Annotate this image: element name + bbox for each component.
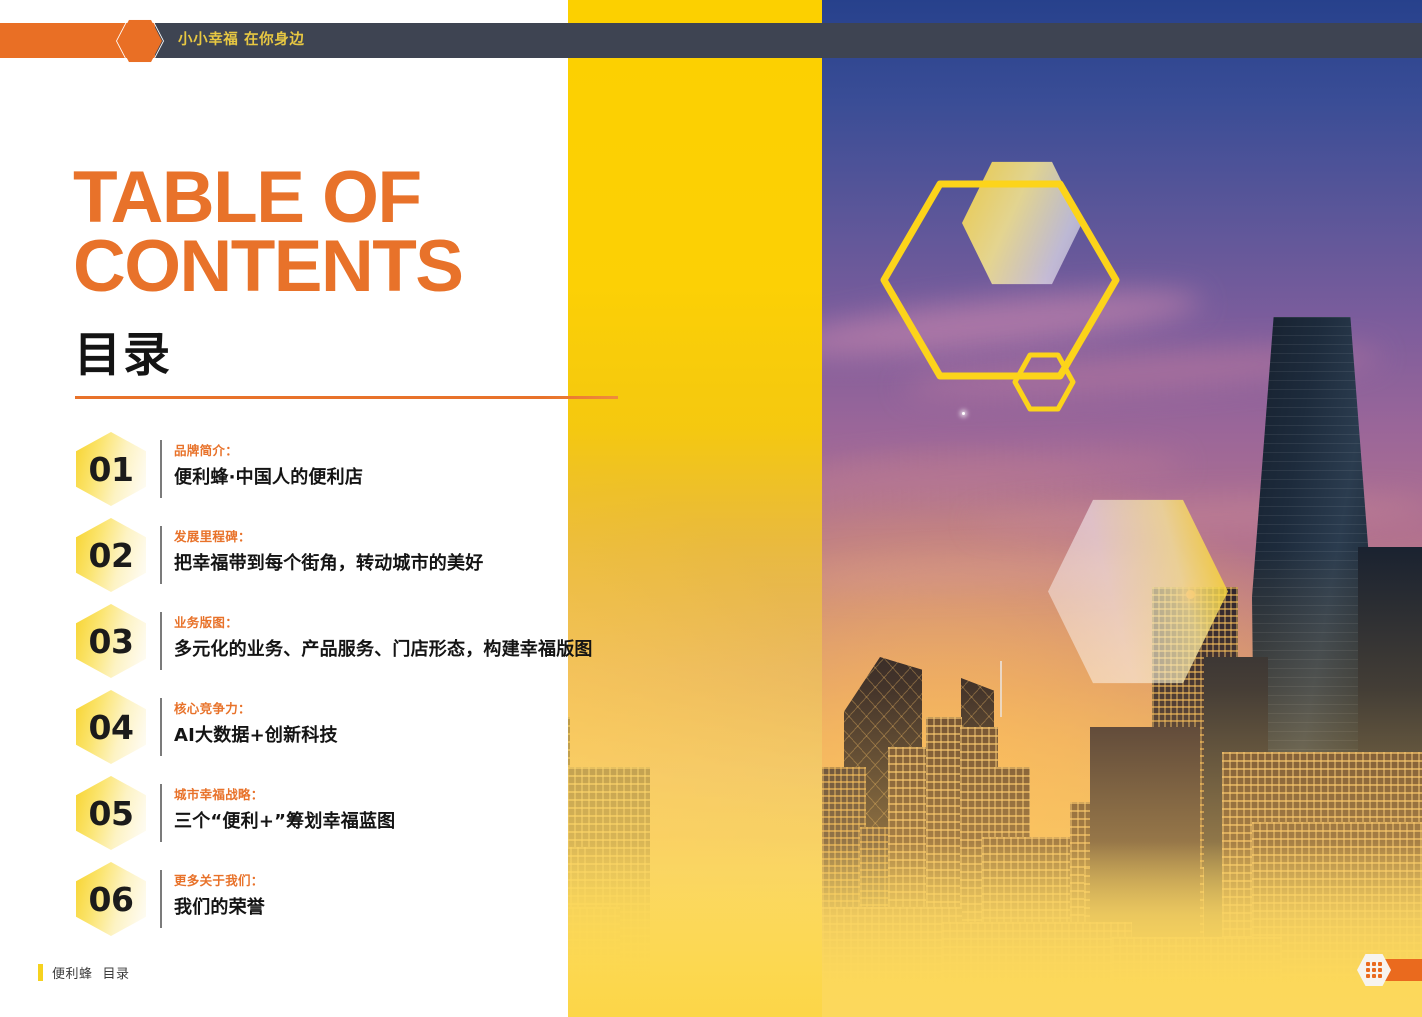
hex-number-badge: 04 [76, 690, 146, 764]
table-of-contents-list: 01 品牌简介： 便利蜂·中国人的便利店 02 发展里程碑： 把幸福带到每个街角… [0, 0, 568, 1017]
item-number: 04 [89, 708, 134, 747]
item-divider [160, 870, 162, 928]
item-number: 05 [89, 794, 134, 833]
list-item[interactable]: 03 业务版图： 多元化的业务、产品服务、门店形态，构建幸福版图 [76, 604, 546, 678]
list-item[interactable]: 01 品牌简介： 便利蜂·中国人的便利店 [76, 432, 546, 506]
item-divider [160, 784, 162, 842]
item-divider [160, 612, 162, 670]
hex-number-badge: 01 [76, 432, 146, 506]
item-number: 06 [89, 880, 134, 919]
item-label: 城市幸福战略： [174, 786, 395, 805]
bottom-haze [822, 842, 1422, 1017]
hex-number-badge: 02 [76, 518, 146, 592]
item-label: 核心竞争力： [174, 700, 338, 719]
item-label: 更多关于我们： [174, 872, 265, 891]
logo-dot-grid [1366, 962, 1382, 978]
item-title: 便利蜂·中国人的便利店 [174, 463, 363, 489]
item-title: AI大数据+创新科技 [174, 721, 338, 747]
hexagon-outline-small [1012, 352, 1076, 412]
slide-page: 小小幸福 在你身边 TABLE OF CONTENTS 目录 01 品牌简介： … [0, 0, 1422, 1017]
item-label: 发展里程碑： [174, 528, 483, 547]
item-label: 业务版图： [174, 614, 593, 633]
item-divider [160, 526, 162, 584]
footer-brand: 便利蜂 [52, 963, 93, 982]
list-item[interactable]: 05 城市幸福战略： 三个“便利+”筹划幸福蓝图 [76, 776, 546, 850]
hex-number-badge: 06 [76, 862, 146, 936]
item-title: 三个“便利+”筹划幸福蓝图 [174, 807, 395, 833]
list-item[interactable]: 06 更多关于我们： 我们的荣誉 [76, 862, 546, 936]
brand-logo[interactable] [1357, 953, 1422, 987]
hex-number-badge: 05 [76, 776, 146, 850]
item-title: 我们的荣誉 [174, 893, 265, 919]
item-number: 03 [89, 622, 134, 661]
item-title: 多元化的业务、产品服务、门店形态，构建幸福版图 [174, 635, 593, 661]
hexagon-outline-large [880, 180, 1120, 380]
item-number: 02 [89, 536, 134, 575]
yellow-accent-band [568, 0, 822, 1017]
item-label: 品牌简介： [174, 442, 363, 461]
antenna [1000, 661, 1002, 717]
footer-tick-mark [38, 964, 43, 981]
footer-section: 目录 [103, 963, 130, 982]
item-title: 把幸福带到每个街角，转动城市的美好 [174, 549, 483, 575]
hex-number-badge: 03 [76, 604, 146, 678]
list-item[interactable]: 02 发展里程碑： 把幸福带到每个街角，转动城市的美好 [76, 518, 546, 592]
item-divider [160, 698, 162, 756]
footer: 便利蜂 目录 [38, 963, 130, 982]
city-skyline-photo [822, 0, 1422, 1017]
item-number: 01 [89, 450, 134, 489]
list-item[interactable]: 04 核心竞争力： AI大数据+创新科技 [76, 690, 546, 764]
item-divider [160, 440, 162, 498]
